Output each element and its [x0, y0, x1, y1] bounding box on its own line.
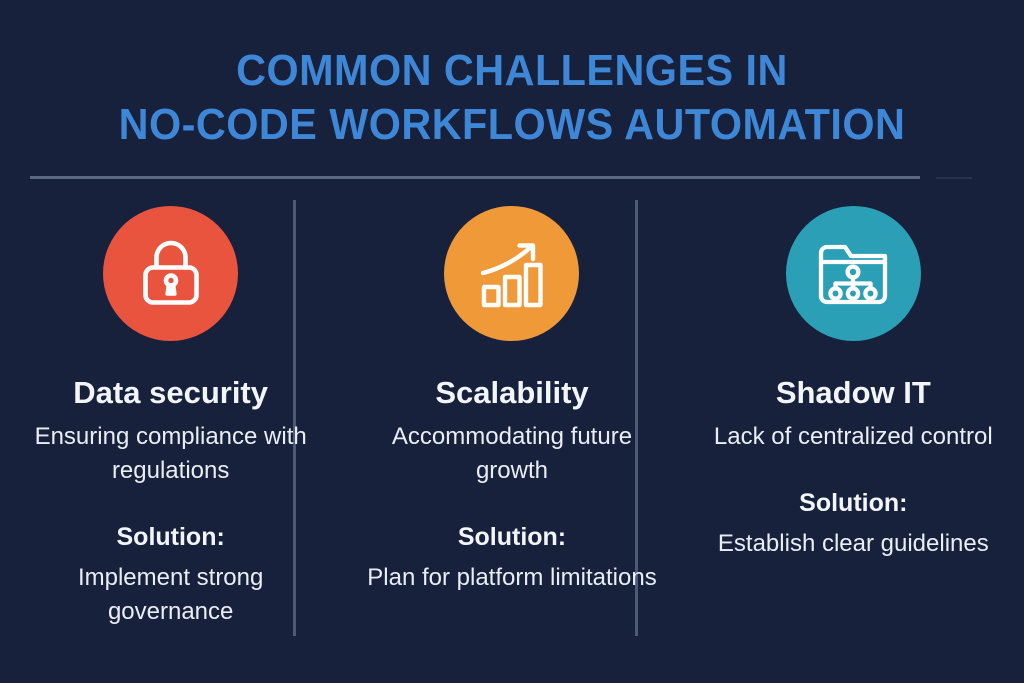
- folder-hierarchy-icon: [813, 234, 893, 314]
- solution-label: Solution:: [458, 522, 566, 552]
- solution-text: Establish clear guidelines: [718, 527, 989, 561]
- challenge-description: Lack of centralized control: [714, 420, 993, 454]
- challenge-description: Accommodating future growth: [367, 420, 657, 488]
- page-title: COMMON CHALLENGES IN NO-CODE WORKFLOWS A…: [0, 44, 1024, 152]
- padlock-icon-badge: [103, 206, 238, 341]
- page-title-line-2: NO-CODE WORKFLOWS AUTOMATION: [31, 98, 994, 152]
- infographic-slide: COMMON CHALLENGES IN NO-CODE WORKFLOWS A…: [0, 0, 1024, 683]
- challenge-title: Data security: [73, 375, 268, 411]
- challenge-column-scalability: Scalability Accommodating future growth …: [341, 200, 682, 636]
- title-divider-fragment: [936, 177, 972, 179]
- solution-text: Implement strong governance: [26, 561, 316, 629]
- bar-chart-growth-icon-badge: [444, 206, 579, 341]
- challenge-column-data-security: Data security Ensuring compliance with r…: [0, 200, 341, 636]
- solution-label: Solution:: [799, 488, 907, 518]
- bar-chart-growth-icon: [473, 235, 551, 313]
- challenge-column-shadow-it: Shadow IT Lack of centralized control So…: [683, 200, 1024, 636]
- padlock-icon: [132, 235, 210, 313]
- challenge-columns: Data security Ensuring compliance with r…: [0, 200, 1024, 636]
- challenge-description: Ensuring compliance with regulations: [26, 420, 316, 488]
- challenge-title: Shadow IT: [776, 375, 931, 411]
- solution-text: Plan for platform limitations: [367, 561, 656, 595]
- page-title-line-1: COMMON CHALLENGES IN: [31, 44, 994, 98]
- challenge-title: Scalability: [435, 375, 588, 411]
- folder-hierarchy-icon-badge: [786, 206, 921, 341]
- title-divider: [30, 176, 920, 179]
- solution-label: Solution:: [117, 522, 225, 552]
